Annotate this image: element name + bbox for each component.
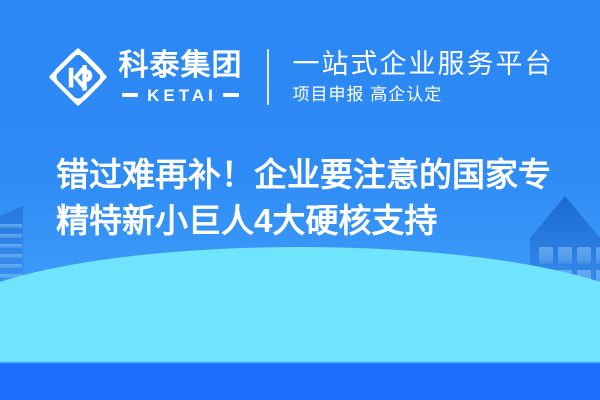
brand-name-en: KETAI xyxy=(144,87,217,104)
header-divider xyxy=(267,49,269,105)
logo-dash-left xyxy=(122,93,138,97)
tagline-sub: 项目申报 高企认定 xyxy=(293,86,554,105)
left-striped-tower xyxy=(0,206,23,340)
brand-logo[interactable]: 科泰集团 KETAI xyxy=(47,46,243,108)
logo-dash-right xyxy=(223,93,239,97)
brand-name-en-row: KETAI xyxy=(122,87,239,104)
promo-banner: 科泰集团 KETAI 一站式企业服务平台 项目申报 高企认定 错过难再补！企业要… xyxy=(0,0,600,400)
headline-line-1: 错过难再补！企业要注意的国家专 xyxy=(56,152,566,198)
headline-line-2: 精特新小巨人4大硬核支持 xyxy=(56,198,566,244)
banner-header: 科泰集团 KETAI 一站式企业服务平台 项目申报 高企认定 xyxy=(0,38,600,116)
brand-logo-wordmark: 科泰集团 KETAI xyxy=(119,51,243,104)
brand-tagline: 一站式企业服务平台 项目申报 高企认定 xyxy=(293,49,554,105)
arc-fill xyxy=(0,250,600,400)
bottom-curved-band xyxy=(0,250,600,400)
tagline-main: 一站式企业服务平台 xyxy=(293,49,554,79)
left-small-block xyxy=(24,330,85,358)
kt-monogram-icon xyxy=(47,46,109,108)
arc-highlight-edge xyxy=(0,247,600,400)
brand-name-cn: 科泰集团 xyxy=(119,51,243,81)
right-short-building xyxy=(468,292,532,354)
headline: 错过难再补！企业要注意的国家专 精特新小巨人4大硬核支持 xyxy=(56,152,566,244)
